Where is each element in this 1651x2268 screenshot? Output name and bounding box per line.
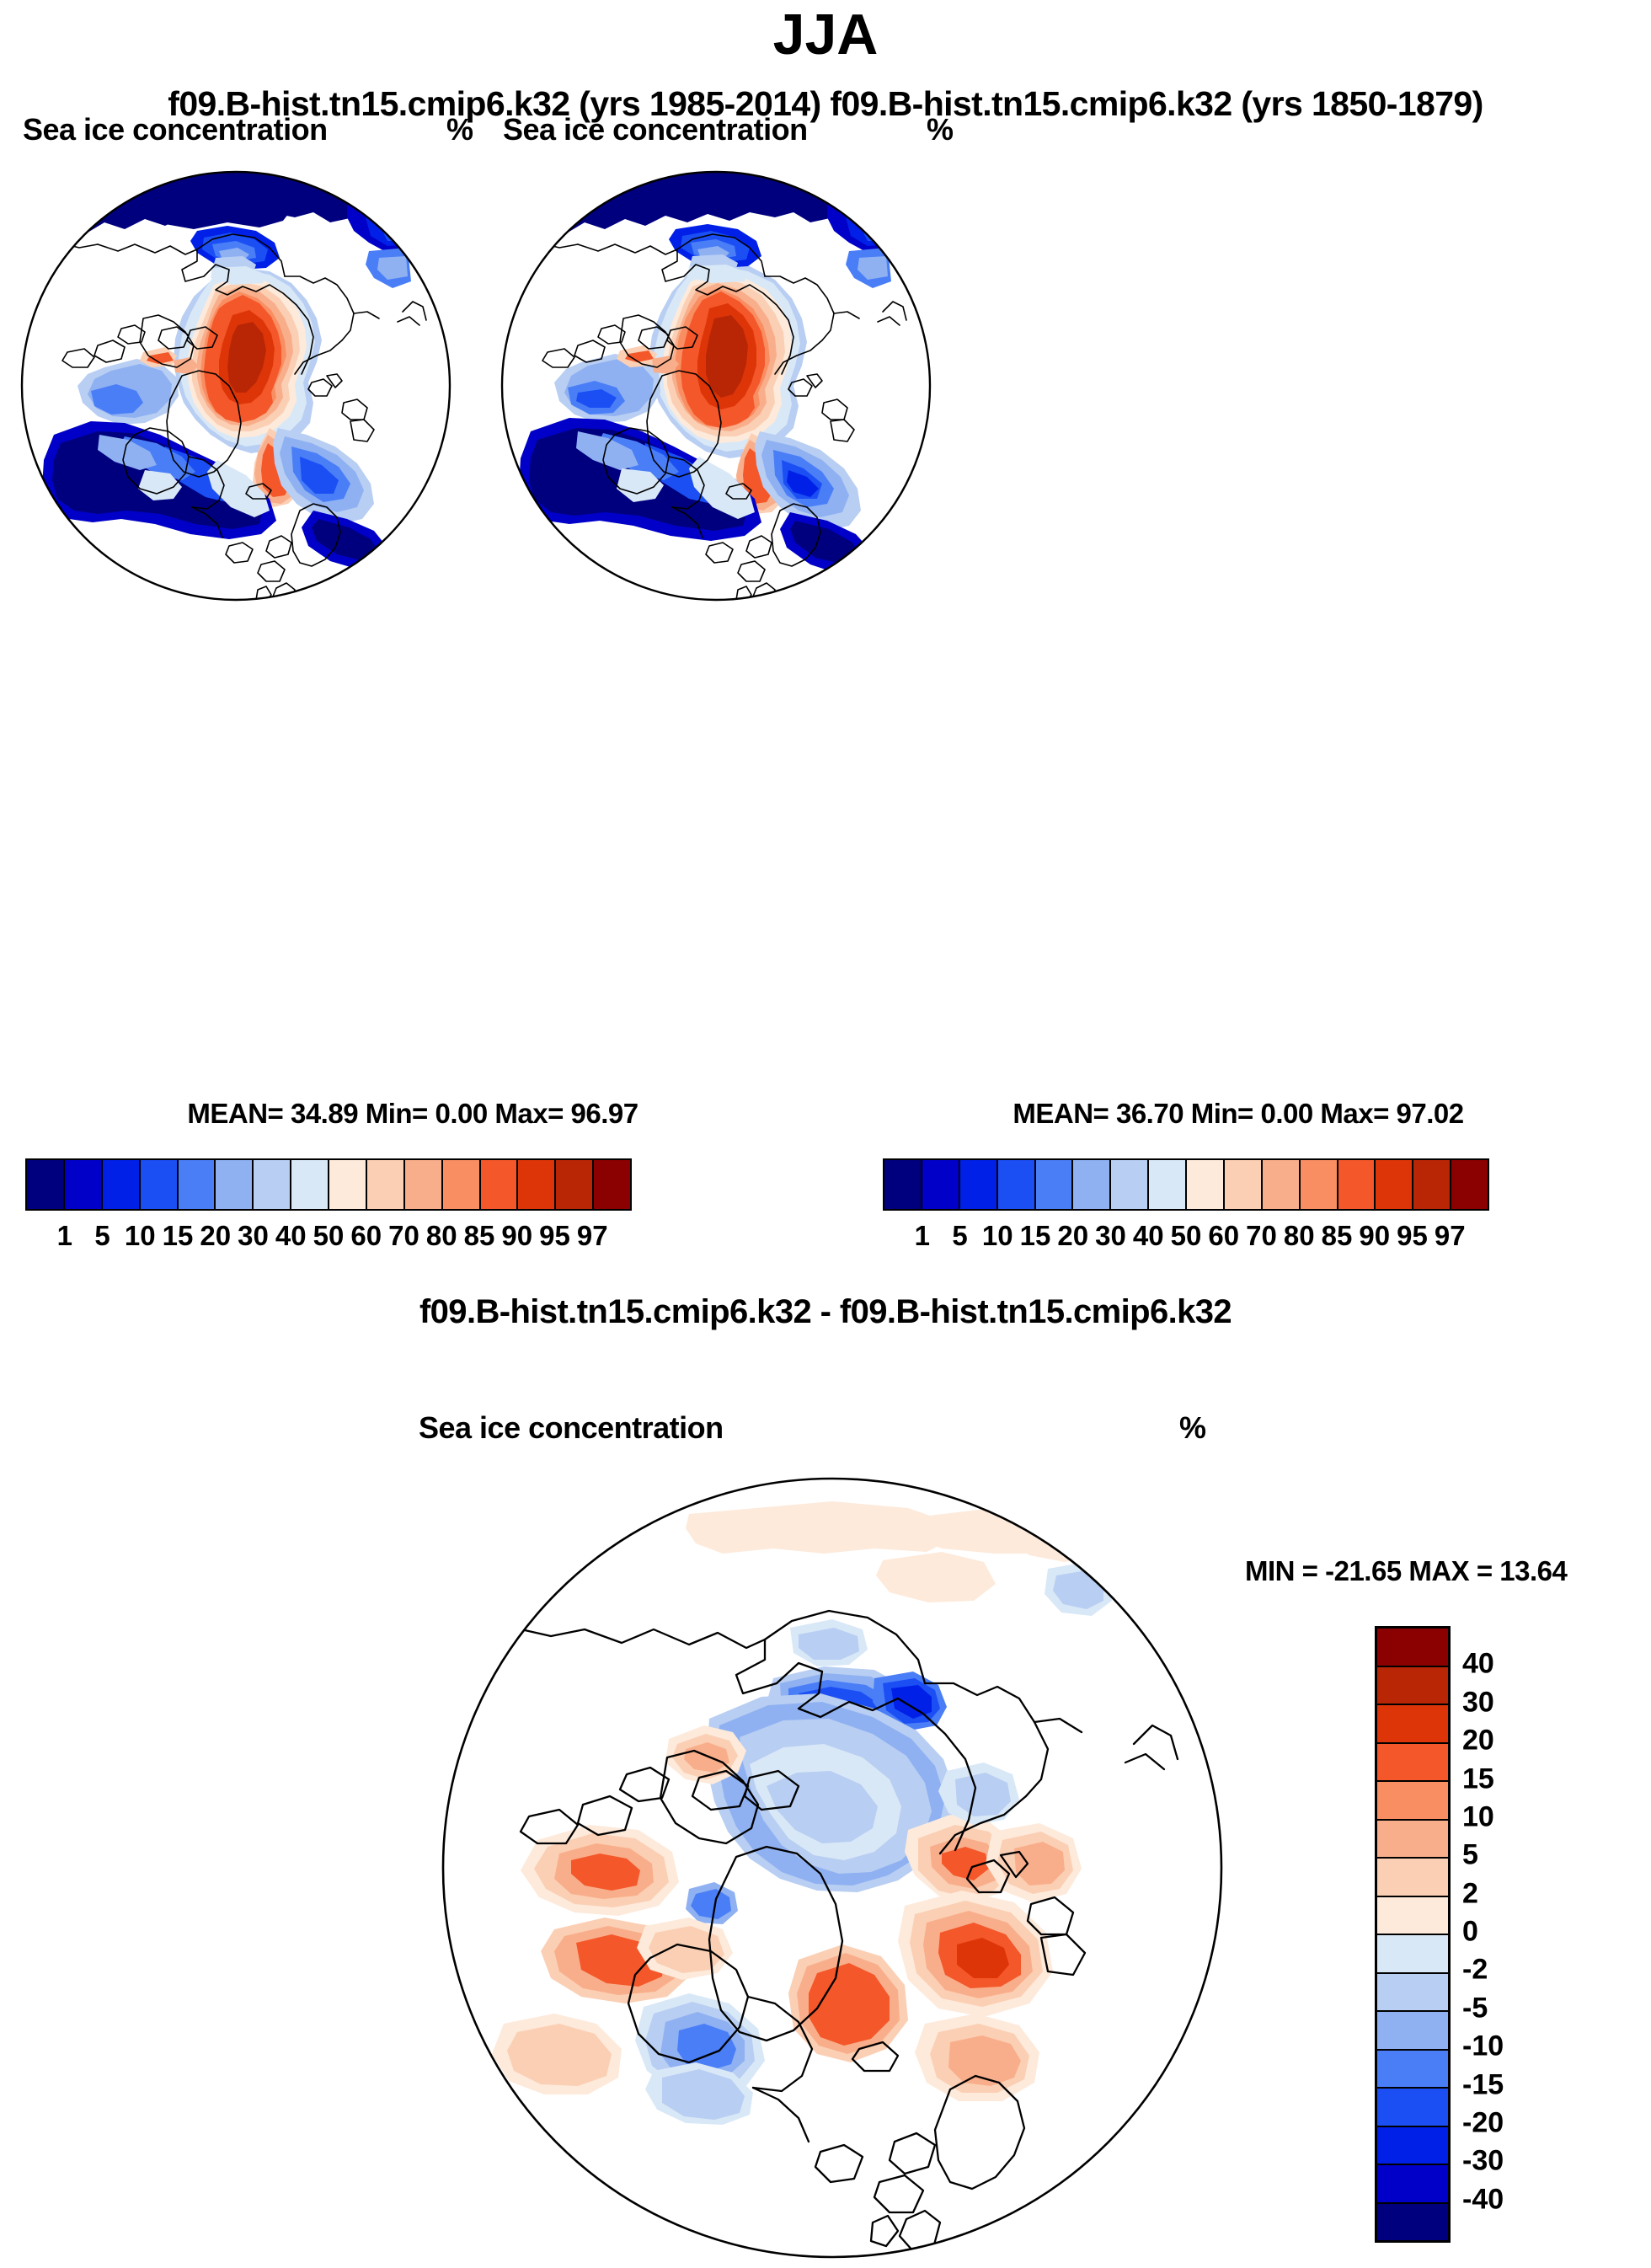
diff-colorbar-tick--5: -5 [1462, 1992, 1488, 2025]
colorbar-band-1 [65, 1160, 103, 1209]
colorbar-tick-80: 80 [1284, 1220, 1315, 1252]
colorbar-band-0 [884, 1160, 922, 1209]
colorbar-tick-85: 85 [1322, 1220, 1353, 1252]
diff-colorbar-band-15 [1377, 2204, 1448, 2241]
colorbar-tick-95: 95 [539, 1220, 570, 1252]
colorbar-band-3 [141, 1160, 179, 1209]
left-variable-label: Sea ice concentration [23, 112, 328, 147]
colorbar-band-11 [1301, 1160, 1338, 1209]
diff-map-svg [436, 1468, 1228, 2268]
left-colorbar-ticks: 1510152030405060708085909597 [25, 1220, 632, 1260]
colorbar-band-8 [329, 1160, 367, 1209]
right-colorbar [883, 1158, 1489, 1211]
colorbar-tick-40: 40 [275, 1220, 307, 1252]
colorbar-tick-95: 95 [1397, 1220, 1428, 1252]
diff-colorbar-tick-2: 2 [1462, 1877, 1478, 1910]
diff-colorbar-tick-20: 20 [1462, 1725, 1494, 1757]
map-panel-difference [436, 1468, 1228, 2268]
diff-colorbar-tick--30: -30 [1462, 2145, 1504, 2178]
diff-colorbar-band-0 [1377, 1629, 1448, 1667]
diff-colorbar-band-1 [1377, 1667, 1448, 1706]
colorbar-band-5 [1073, 1160, 1111, 1209]
colorbar-tick-50: 50 [1171, 1220, 1202, 1252]
diff-colorbar-band-10 [1377, 2012, 1448, 2051]
colorbar-band-7 [1149, 1160, 1187, 1209]
difference-colorbar-ticks: 4030201510520-2-5-10-15-20-30-40 [1462, 1626, 1614, 2238]
diff-minmax-line: MIN = -21.65 MAX = 13.64 [1245, 1555, 1567, 1587]
season-title: JJA [0, 2, 1651, 67]
colorbar-band-15 [594, 1160, 630, 1209]
colorbar-band-7 [291, 1160, 329, 1209]
colorbar-tick-15: 15 [163, 1220, 194, 1252]
colorbar-band-9 [367, 1160, 405, 1209]
difference-colorbar [1375, 1626, 1451, 2243]
diff-colorbar-band-3 [1377, 1744, 1448, 1783]
diff-colorbar-tick--20: -20 [1462, 2106, 1504, 2139]
colorbar-band-0 [27, 1160, 65, 1209]
diff-colorbar-tick-30: 30 [1462, 1686, 1494, 1719]
diff-colorbar-tick--15: -15 [1462, 2068, 1504, 2101]
colorbar-tick-97: 97 [577, 1220, 608, 1252]
diff-colorbar-band-8 [1377, 1935, 1448, 1974]
colorbar-tick-5: 5 [94, 1220, 110, 1252]
colorbar-tick-20: 20 [200, 1220, 231, 1252]
colorbar-tick-90: 90 [501, 1220, 532, 1252]
colorbar-tick-60: 60 [1208, 1220, 1239, 1252]
colorbar-band-2 [960, 1160, 998, 1209]
right-map-svg [497, 150, 935, 622]
colorbar-band-12 [481, 1160, 519, 1209]
left-colorbar [25, 1158, 632, 1211]
colorbar-band-5 [216, 1160, 254, 1209]
colorbar-tick-1: 1 [57, 1220, 72, 1252]
diff-colorbar-band-5 [1377, 1821, 1448, 1859]
colorbar-band-2 [103, 1160, 141, 1209]
diff-colorbar-tick-10: 10 [1462, 1800, 1494, 1833]
colorbar-tick-97: 97 [1435, 1220, 1466, 1252]
diff-colorbar-band-11 [1377, 2051, 1448, 2089]
colorbar-band-14 [556, 1160, 594, 1209]
right-variable-label: Sea ice concentration [503, 112, 808, 147]
colorbar-tick-70: 70 [388, 1220, 419, 1252]
colorbar-tick-20: 20 [1057, 1220, 1088, 1252]
left-stats-line: MEAN= 34.89 Min= 0.00 Max= 96.97 [0, 1098, 825, 1130]
map-panel-left [17, 150, 455, 622]
colorbar-band-8 [1187, 1160, 1225, 1209]
colorbar-band-9 [1225, 1160, 1263, 1209]
colorbar-tick-1: 1 [915, 1220, 930, 1252]
colorbar-tick-80: 80 [426, 1220, 457, 1252]
colorbar-band-14 [1413, 1160, 1451, 1209]
colorbar-tick-15: 15 [1020, 1220, 1051, 1252]
left-unit-label: % [446, 112, 473, 147]
colorbar-band-1 [922, 1160, 960, 1209]
diff-colorbar-band-4 [1377, 1782, 1448, 1821]
diff-colorbar-tick--2: -2 [1462, 1954, 1488, 1987]
figure-canvas: JJA f09.B-hist.tn15.cmip6.k32 (yrs 1985-… [0, 0, 1651, 2267]
colorbar-tick-70: 70 [1246, 1220, 1277, 1252]
right-ice-field [497, 150, 935, 622]
colorbar-band-15 [1451, 1160, 1488, 1209]
colorbar-tick-30: 30 [1095, 1220, 1126, 1252]
diff-variable-label: Sea ice concentration [419, 1410, 724, 1446]
colorbar-band-4 [1036, 1160, 1074, 1209]
colorbar-tick-90: 90 [1359, 1220, 1390, 1252]
diff-colorbar-tick-5: 5 [1462, 1839, 1478, 1872]
colorbar-tick-5: 5 [952, 1220, 967, 1252]
left-ice-field [17, 150, 455, 622]
diff-colorbar-band-7 [1377, 1897, 1448, 1936]
diff-unit-label: % [1179, 1410, 1206, 1446]
diff-colorbar-band-6 [1377, 1859, 1448, 1897]
colorbar-tick-10: 10 [982, 1220, 1013, 1252]
right-colorbar-ticks: 1510152030405060708085909597 [883, 1220, 1489, 1260]
colorbar-band-6 [1111, 1160, 1149, 1209]
diff-colorbar-tick--10: -10 [1462, 2030, 1504, 2063]
diff-colorbar-tick-40: 40 [1462, 1648, 1494, 1681]
map-panel-right [497, 150, 935, 622]
colorbar-band-3 [998, 1160, 1036, 1209]
colorbar-band-6 [254, 1160, 291, 1209]
difference-case-subtitle: f09.B-hist.tn15.cmip6.k32 - f09.B-hist.t… [0, 1293, 1651, 1331]
colorbar-tick-30: 30 [238, 1220, 269, 1252]
colorbar-tick-40: 40 [1133, 1220, 1164, 1252]
colorbar-tick-85: 85 [464, 1220, 495, 1252]
diff-colorbar-tick-15: 15 [1462, 1763, 1494, 1795]
colorbar-band-13 [1376, 1160, 1413, 1209]
colorbar-band-13 [518, 1160, 556, 1209]
colorbar-tick-50: 50 [313, 1220, 345, 1252]
diff-colorbar-band-14 [1377, 2165, 1448, 2204]
diff-colorbar-band-12 [1377, 2089, 1448, 2127]
right-stats-line: MEAN= 36.70 Min= 0.00 Max= 97.02 [825, 1098, 1651, 1130]
left-map-svg [17, 150, 455, 622]
diff-colorbar-band-2 [1377, 1705, 1448, 1744]
colorbar-band-4 [179, 1160, 216, 1209]
right-unit-label: % [927, 112, 954, 147]
colorbar-band-10 [1263, 1160, 1301, 1209]
colorbar-band-11 [443, 1160, 481, 1209]
diff-colorbar-band-9 [1377, 1974, 1448, 2013]
diff-colorbar-band-13 [1377, 2127, 1448, 2166]
diff-colorbar-tick-0: 0 [1462, 1916, 1478, 1949]
colorbar-band-10 [405, 1160, 443, 1209]
colorbar-tick-60: 60 [350, 1220, 382, 1252]
diff-colorbar-tick--40: -40 [1462, 2183, 1504, 2216]
colorbar-band-12 [1338, 1160, 1376, 1209]
colorbar-tick-10: 10 [125, 1220, 156, 1252]
